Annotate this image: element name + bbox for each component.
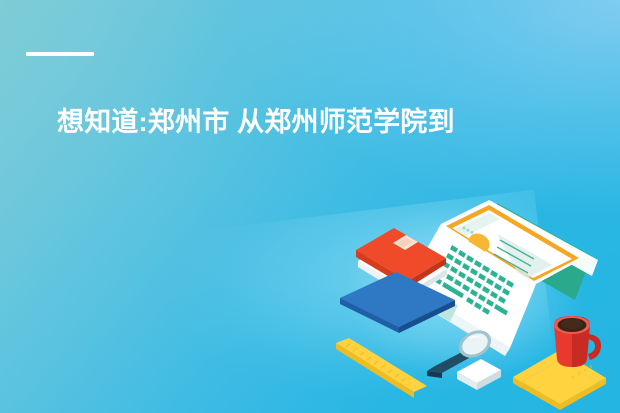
background-highlight xyxy=(0,0,620,413)
page-title: 想知道:郑州市 从郑州师范学院到 xyxy=(57,102,597,142)
title-accent-rule xyxy=(26,52,94,56)
promo-banner: 想知道:郑州市 从郑州师范学院到 xyxy=(0,0,620,413)
